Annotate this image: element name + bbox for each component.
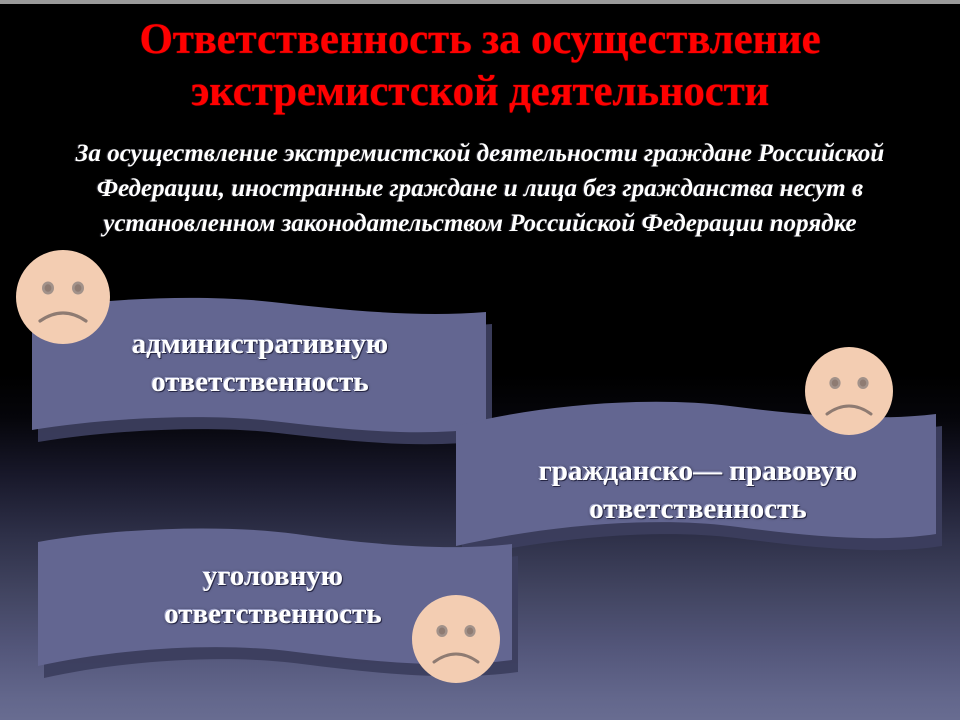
slide-subtitle: За осуществление экстремистской деятельн… <box>52 136 908 241</box>
top-border-strip <box>0 0 960 4</box>
sad-face-icon <box>14 248 112 346</box>
sad-face-icon <box>410 593 502 685</box>
presentation-slide: административную ответственность граждан… <box>0 0 960 720</box>
page-title: Ответственность за осуществление экстрем… <box>0 14 960 118</box>
sad-face-icon <box>803 345 895 437</box>
